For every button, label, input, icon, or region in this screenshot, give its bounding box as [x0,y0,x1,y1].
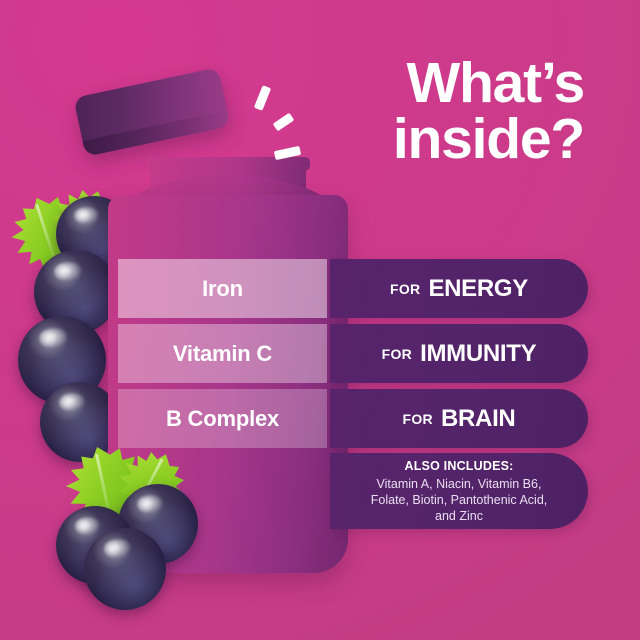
grape-berry [84,528,166,610]
benefit-pill: FOR IMMUNITY [330,324,588,383]
benefit-prefix: FOR [382,346,412,362]
benefit-pill: FOR BRAIN [330,389,588,448]
ingredient-row-b-complex: B Complex FOR BRAIN [118,389,640,448]
also-includes-body: Vitamin A, Niacin, Vitamin B6, Folate, B… [371,476,548,524]
also-includes-title: ALSO INCLUDES: [404,459,513,473]
ingredient-name: B Complex [118,389,327,448]
ingredient-row-vitamin-c: Vitamin C FOR IMMUNITY [118,324,640,383]
also-includes-panel: ALSO INCLUDES: Vitamin A, Niacin, Vitami… [330,453,588,529]
benefit-pill: FOR ENERGY [330,259,588,318]
ingredient-name: Vitamin C [118,324,327,383]
benefit-prefix: FOR [390,281,420,297]
benefit-prefix: FOR [403,411,433,427]
benefit-label: IMMUNITY [420,340,536,368]
infographic-canvas: What’s inside? Iron FOR ENERGY Vitamin C… [0,0,640,640]
benefit-label: ENERGY [428,275,528,303]
ingredient-name: Iron [118,259,327,318]
ingredient-row-iron: Iron FOR ENERGY [118,259,640,318]
benefit-label: BRAIN [441,405,516,433]
